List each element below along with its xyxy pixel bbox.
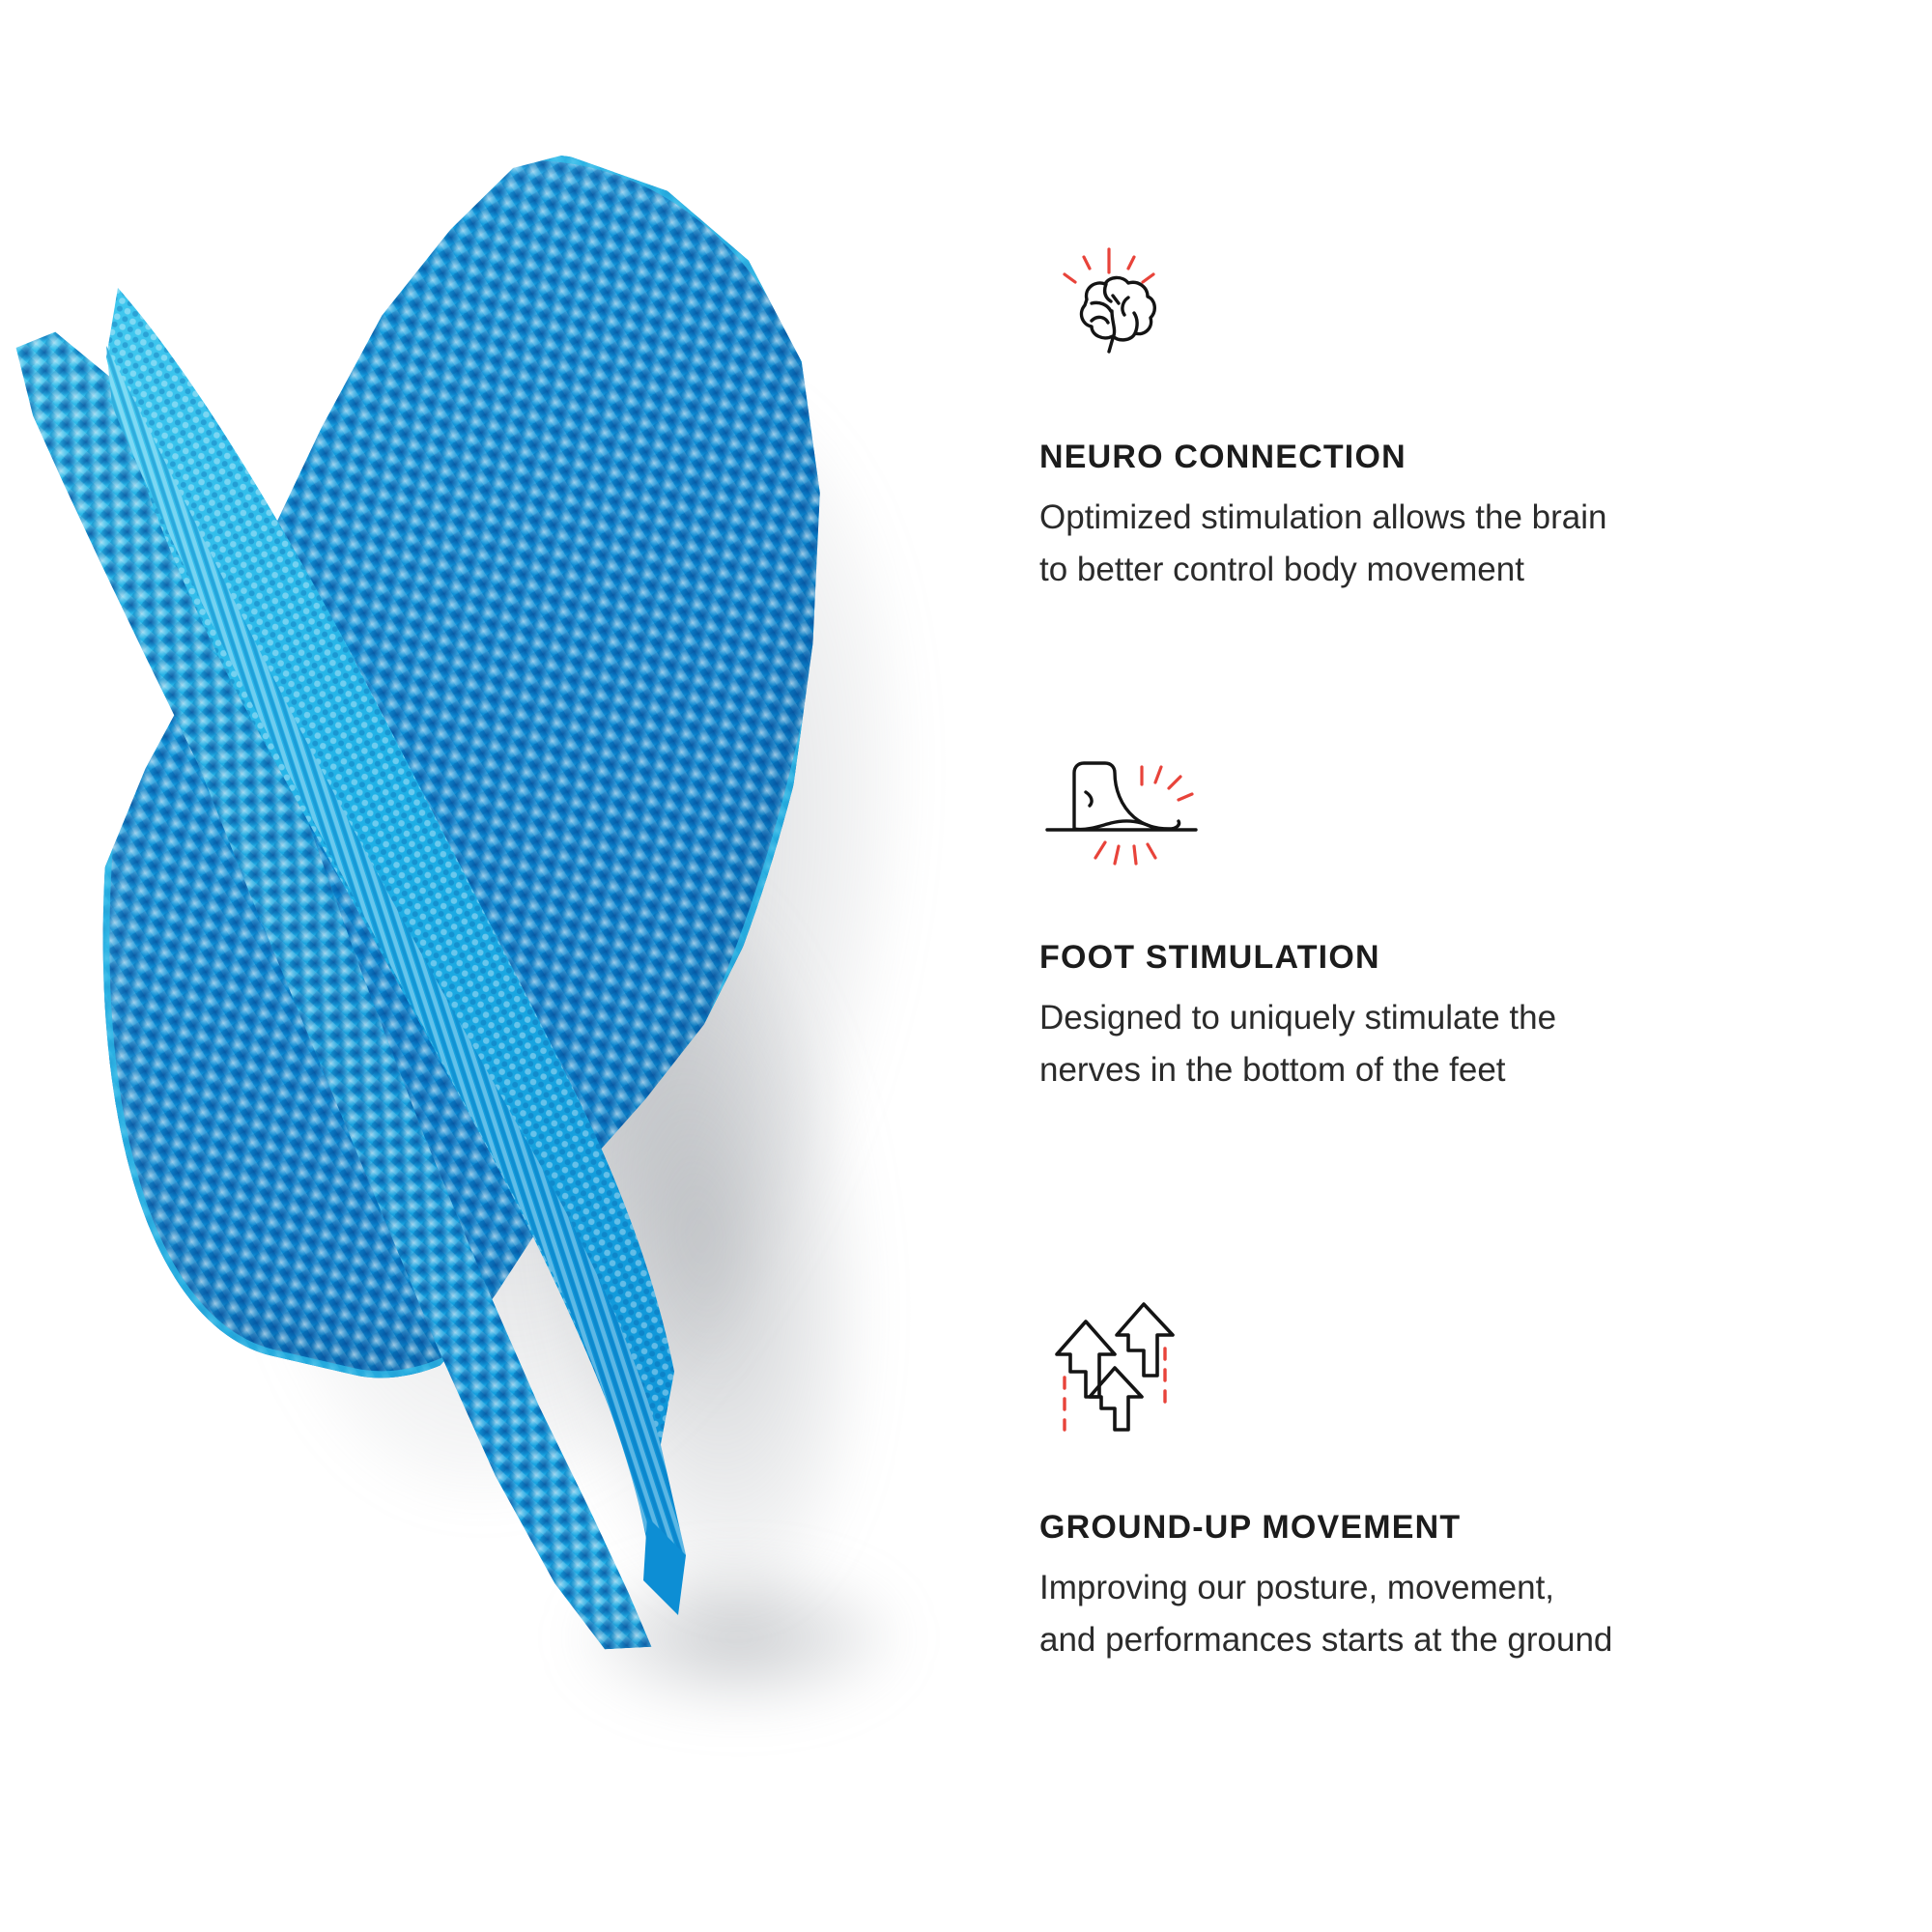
feature-description-line: nerves in the bottom of the feet <box>1039 1044 1832 1096</box>
feature-item-neuro-connection: NEURO CONNECTION Optimized stimulation a… <box>1039 243 1832 597</box>
infographic-canvas: NEURO CONNECTION Optimized stimulation a… <box>0 0 1932 1932</box>
feature-description-line: to better control body movement <box>1039 544 1832 596</box>
feature-description: Designed to uniquely stimulate the nerve… <box>1039 992 1832 1097</box>
feature-description-line: Designed to uniquely stimulate the <box>1039 992 1832 1044</box>
pyramid-nub-texture-standing <box>0 274 705 1679</box>
feature-description: Optimized stimulation allows the brain t… <box>1039 492 1832 597</box>
standing-insole-surface <box>0 274 705 1679</box>
feature-item-foot-stimulation: FOOT STIMULATION Designed to uniquely st… <box>1039 746 1832 1097</box>
feature-description-line: and performances starts at the ground <box>1039 1614 1832 1666</box>
feature-description-line: Optimized stimulation allows the brain <box>1039 492 1832 544</box>
feature-description: Improving our posture, movement, and per… <box>1039 1562 1832 1667</box>
up-arrows-icon <box>1041 1289 1186 1434</box>
feature-description-line: Improving our posture, movement, <box>1039 1562 1832 1614</box>
feature-title: GROUND-UP MOVEMENT <box>1039 1509 1832 1547</box>
feature-title: FOOT STIMULATION <box>1039 939 1832 977</box>
foot-stimulation-icon <box>1041 746 1206 871</box>
brain-icon <box>1041 243 1177 369</box>
standing-insole <box>0 274 705 1679</box>
product-photo <box>0 0 976 1932</box>
feature-list: NEURO CONNECTION Optimized stimulation a… <box>1039 0 1889 1932</box>
feature-item-ground-up-movement: GROUND-UP MOVEMENT Improving our posture… <box>1039 1289 1832 1667</box>
feature-title: NEURO CONNECTION <box>1039 439 1832 476</box>
